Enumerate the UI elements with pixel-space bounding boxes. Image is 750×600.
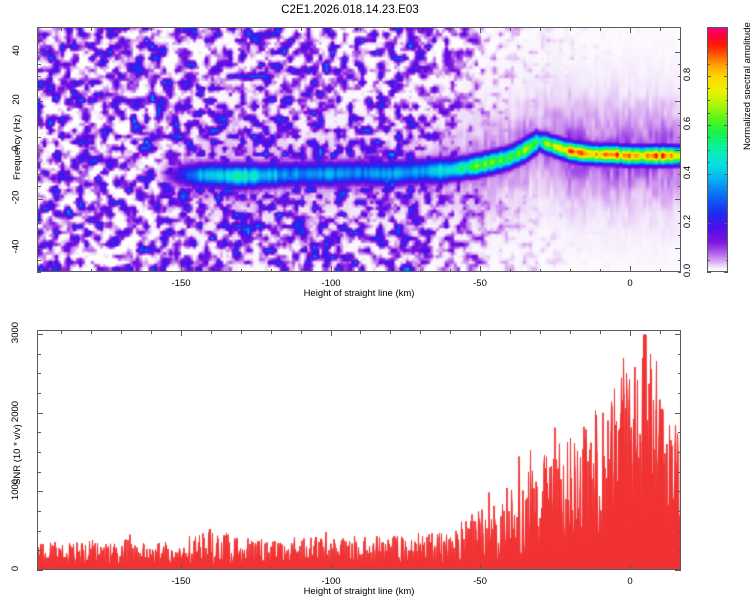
colorbar-tick-minor-right (726, 64, 729, 65)
tick-minor-right (678, 235, 682, 236)
tick-major (37, 334, 43, 335)
tick-minor (301, 269, 302, 273)
colorbar-tick-minor (707, 260, 710, 261)
tick-minor (151, 269, 152, 273)
tick-minor-top (600, 330, 601, 334)
snr-x-axis-label: Height of straight line (km) (37, 586, 681, 597)
colorbar-tick-minor (707, 113, 710, 114)
tick-major (480, 266, 481, 272)
colorbar-tick (707, 76, 711, 77)
colorbar-tick-minor (707, 64, 710, 65)
colorbar-tick-minor-right (726, 88, 729, 89)
tick-minor (37, 39, 41, 40)
y-tick-label-text: 2000 (10, 401, 21, 422)
tick-major-top (630, 27, 631, 33)
tick-minor (570, 567, 571, 571)
tick-minor (37, 511, 41, 512)
tick-major-top (331, 27, 332, 33)
tick-minor (37, 174, 41, 175)
tick-major-right (675, 570, 681, 571)
tick-minor (540, 269, 541, 273)
tick-minor (420, 567, 421, 571)
tick-minor-top (121, 27, 122, 31)
tick-minor-top (151, 330, 152, 334)
colorbar-tick-minor-right (726, 211, 729, 212)
tick-minor-right (678, 531, 682, 532)
tick-minor-right (678, 511, 682, 512)
tick-minor (301, 567, 302, 571)
tick-minor (37, 211, 41, 212)
tick-minor (241, 567, 242, 571)
tick-minor (121, 567, 122, 571)
tick-minor (271, 269, 272, 273)
tick-minor-right (678, 113, 682, 114)
tick-minor (37, 88, 41, 89)
tick-minor-top (151, 27, 152, 31)
tick-minor-right (678, 64, 682, 65)
tick-minor-top (600, 27, 601, 31)
tick-minor (37, 223, 41, 224)
tick-major (37, 150, 43, 151)
tick-major (37, 570, 43, 571)
tick-minor (450, 567, 451, 571)
tick-minor-top (91, 27, 92, 31)
spectrogram-canvas (38, 28, 680, 271)
y-tick-label: 2000 (0, 406, 33, 417)
colorbar-tick-label: 0.4 (673, 167, 703, 178)
colorbar-label: Normalized spectral amplitude (742, 22, 750, 150)
tick-minor (37, 260, 41, 261)
colorbar-tick-minor (707, 186, 710, 187)
colorbar-tick-minor (707, 235, 710, 236)
tick-minor-right (678, 39, 682, 40)
tick-minor (420, 269, 421, 273)
tick-minor-top (540, 330, 541, 334)
tick-minor (61, 269, 62, 273)
tick-minor-top (360, 330, 361, 334)
tick-minor-right (678, 88, 682, 89)
tick-minor-top (660, 330, 661, 334)
colorbar-tick-minor (707, 211, 710, 212)
snr-y-axis-label: SNR (10 * v/v) (12, 424, 23, 485)
y-tick-label: -40 (0, 241, 33, 252)
tick-minor-right (678, 162, 682, 163)
tick-minor-top (450, 330, 451, 334)
tick-minor (211, 269, 212, 273)
colorbar-tick-minor-right (726, 186, 729, 187)
colorbar-tick-minor (707, 137, 710, 138)
tick-minor (61, 567, 62, 571)
tick-minor-top (390, 330, 391, 334)
tick-minor (360, 269, 361, 273)
colorbar-tick-minor-right (726, 235, 729, 236)
tick-major-right (675, 248, 681, 249)
tick-minor (37, 27, 41, 28)
tick-minor (37, 531, 41, 532)
colorbar-tick-minor (707, 162, 710, 163)
tick-major (630, 564, 631, 570)
y-tick-label: -20 (0, 192, 33, 203)
colorbar-tick-minor-right (726, 51, 729, 52)
tick-major-top (480, 27, 481, 33)
tick-minor (241, 269, 242, 273)
tick-minor-top (360, 27, 361, 31)
tick-minor (121, 269, 122, 273)
y-tick-label: 40 (0, 45, 33, 56)
tick-major-top (480, 330, 481, 336)
tick-minor (570, 269, 571, 273)
page-title: C2E1.2026.018.14.23.E03 (0, 4, 700, 16)
tick-minor (37, 393, 41, 394)
tick-major (37, 199, 43, 200)
colorbar-tick-minor-right (726, 248, 729, 249)
y-tick-label-text: 1000 (10, 479, 21, 500)
tick-major (37, 52, 43, 53)
tick-minor-top (271, 27, 272, 31)
tick-minor (510, 567, 511, 571)
tick-minor-top (91, 330, 92, 334)
y-tick-label: 3000 (0, 327, 33, 338)
colorbar-tick-minor-right (726, 150, 729, 151)
tick-minor-top (390, 27, 391, 31)
colorbar-tick-minor (707, 88, 710, 89)
tick-minor-right (678, 373, 682, 374)
colorbar-tick (707, 174, 711, 175)
tick-minor (37, 113, 41, 114)
colorbar-tick-label: 0.6 (673, 118, 703, 129)
colorbar-tick-minor (707, 51, 710, 52)
colorbar-tick-minor-right (726, 113, 729, 114)
x-tick-label: -150 (171, 278, 190, 289)
tick-major-top (181, 27, 182, 33)
tick-minor-top (510, 27, 511, 31)
tick-major-right (675, 101, 681, 102)
colorbar-tick (707, 125, 711, 126)
tick-major (37, 413, 43, 414)
spectrogram-panel (37, 27, 681, 272)
tick-minor (37, 472, 41, 473)
colorbar-tick (707, 223, 711, 224)
tick-minor-top (450, 27, 451, 31)
tick-minor-top (660, 27, 661, 31)
tick-minor (91, 567, 92, 571)
y-tick-label-text: 0 (10, 566, 21, 571)
tick-major-top (630, 330, 631, 336)
tick-minor (37, 235, 41, 236)
tick-minor-top (241, 27, 242, 31)
colorbar-tick-minor-right (726, 162, 729, 163)
tick-minor (600, 269, 601, 273)
tick-minor-right (678, 472, 682, 473)
tick-minor (37, 354, 41, 355)
y-tick-label: 0 (0, 143, 33, 154)
tick-minor-top (540, 27, 541, 31)
tick-minor (37, 373, 41, 374)
colorbar-tick-minor (707, 150, 710, 151)
tick-minor (151, 567, 152, 571)
tick-minor (37, 550, 41, 551)
tick-major-right (675, 491, 681, 492)
x-tick-label: -100 (321, 278, 340, 289)
tick-major-right (675, 413, 681, 414)
tick-major (480, 564, 481, 570)
tick-minor (600, 567, 601, 571)
tick-minor (211, 567, 212, 571)
tick-minor (37, 76, 41, 77)
tick-major (331, 266, 332, 272)
snr-panel (37, 330, 681, 570)
tick-minor (660, 269, 661, 273)
tick-minor-top (211, 27, 212, 31)
tick-minor-top (301, 27, 302, 31)
tick-minor (360, 567, 361, 571)
tick-major (37, 248, 43, 249)
tick-minor-top (121, 330, 122, 334)
tick-minor-right (678, 354, 682, 355)
colorbar-tick-minor (707, 248, 710, 249)
colorbar-tick-label-text: 0.4 (683, 166, 694, 179)
tick-major (630, 266, 631, 272)
tick-minor-right (678, 186, 682, 187)
y-tick-label: 20 (0, 94, 33, 105)
colorbar-tick-label: 0.2 (673, 216, 703, 227)
colorbar-tick-label-text: 0.6 (683, 117, 694, 130)
y-tick-label-text: 40 (10, 45, 21, 56)
snr-canvas (38, 331, 680, 569)
y-tick-label-text: 3000 (10, 322, 21, 343)
tick-minor (450, 269, 451, 273)
tick-major-top (331, 330, 332, 336)
x-tick-label: -150 (171, 576, 190, 587)
tick-minor (91, 269, 92, 273)
colorbar-tick-label: 0.8 (673, 69, 703, 80)
colorbar-tick-minor (707, 100, 710, 101)
x-tick-label: -50 (473, 576, 487, 587)
tick-minor-top (61, 27, 62, 31)
x-tick-label: -100 (321, 576, 340, 587)
tick-minor-right (678, 393, 682, 394)
tick-minor (37, 162, 41, 163)
colorbar-tick-right (724, 272, 728, 273)
colorbar-tick-minor-right (726, 39, 729, 40)
tick-minor (271, 567, 272, 571)
tick-minor-top (241, 330, 242, 334)
tick-minor-right (678, 550, 682, 551)
tick-minor (37, 272, 41, 273)
tick-major (37, 491, 43, 492)
tick-major (181, 266, 182, 272)
x-tick-label: 0 (627, 278, 632, 289)
tick-minor (37, 137, 41, 138)
tick-major-top (181, 330, 182, 336)
tick-minor (510, 269, 511, 273)
tick-major-right (675, 52, 681, 53)
tick-minor-right (678, 211, 682, 212)
tick-minor-top (420, 330, 421, 334)
tick-minor-right (678, 27, 682, 28)
tick-minor-top (211, 330, 212, 334)
colorbar-tick-minor-right (726, 100, 729, 101)
tick-major (37, 101, 43, 102)
tick-minor-right (678, 432, 682, 433)
tick-minor (540, 567, 541, 571)
colorbar-tick-label-text: 0.8 (683, 68, 694, 81)
tick-minor-top (301, 330, 302, 334)
spectrogram-x-axis-label: Height of straight line (km) (37, 288, 681, 299)
tick-minor-top (510, 330, 511, 334)
tick-minor-top (570, 27, 571, 31)
tick-major-right (675, 199, 681, 200)
tick-minor-right (678, 137, 682, 138)
y-tick-label-text: 20 (10, 94, 21, 105)
tick-minor (37, 186, 41, 187)
y-tick-label: 0 (0, 563, 33, 574)
colorbar-tick-right (724, 125, 728, 126)
tick-major-right (675, 150, 681, 151)
colorbar-tick (707, 272, 711, 273)
tick-major (331, 564, 332, 570)
colorbar-tick-minor-right (726, 137, 729, 138)
colorbar-tick-minor-right (726, 199, 729, 200)
colorbar-tick-right (724, 223, 728, 224)
tick-minor (390, 269, 391, 273)
colorbar-tick-minor (707, 199, 710, 200)
tick-minor-right (678, 260, 682, 261)
tick-minor (37, 64, 41, 65)
colorbar-tick-minor (707, 39, 710, 40)
figure-root: C2E1.2026.018.14.23.E03 Frequency (Hz) H… (0, 0, 750, 600)
tick-minor-top (271, 330, 272, 334)
tick-minor (390, 567, 391, 571)
colorbar-tick-minor-right (726, 260, 729, 261)
tick-minor-top (61, 330, 62, 334)
x-tick-label: -50 (473, 278, 487, 289)
colorbar-tick-label-text: 0.0 (683, 264, 694, 277)
colorbar-tick-right (724, 76, 728, 77)
tick-minor-right (678, 452, 682, 453)
tick-major (181, 564, 182, 570)
y-tick-label: 1000 (0, 484, 33, 495)
x-tick-label: 0 (627, 576, 632, 587)
tick-minor (37, 452, 41, 453)
y-tick-label-text: 0 (10, 146, 21, 151)
colorbar-tick-label: 0.0 (673, 265, 703, 276)
y-tick-label-text: -40 (10, 240, 21, 254)
colorbar-tick-label-text: 0.2 (683, 215, 694, 228)
colorbar-tick-right (724, 174, 728, 175)
y-tick-label-text: -20 (10, 191, 21, 205)
tick-minor (37, 432, 41, 433)
tick-minor-top (570, 330, 571, 334)
tick-minor (37, 125, 41, 126)
tick-minor-top (420, 27, 421, 31)
tick-major-right (675, 334, 681, 335)
tick-minor (660, 567, 661, 571)
